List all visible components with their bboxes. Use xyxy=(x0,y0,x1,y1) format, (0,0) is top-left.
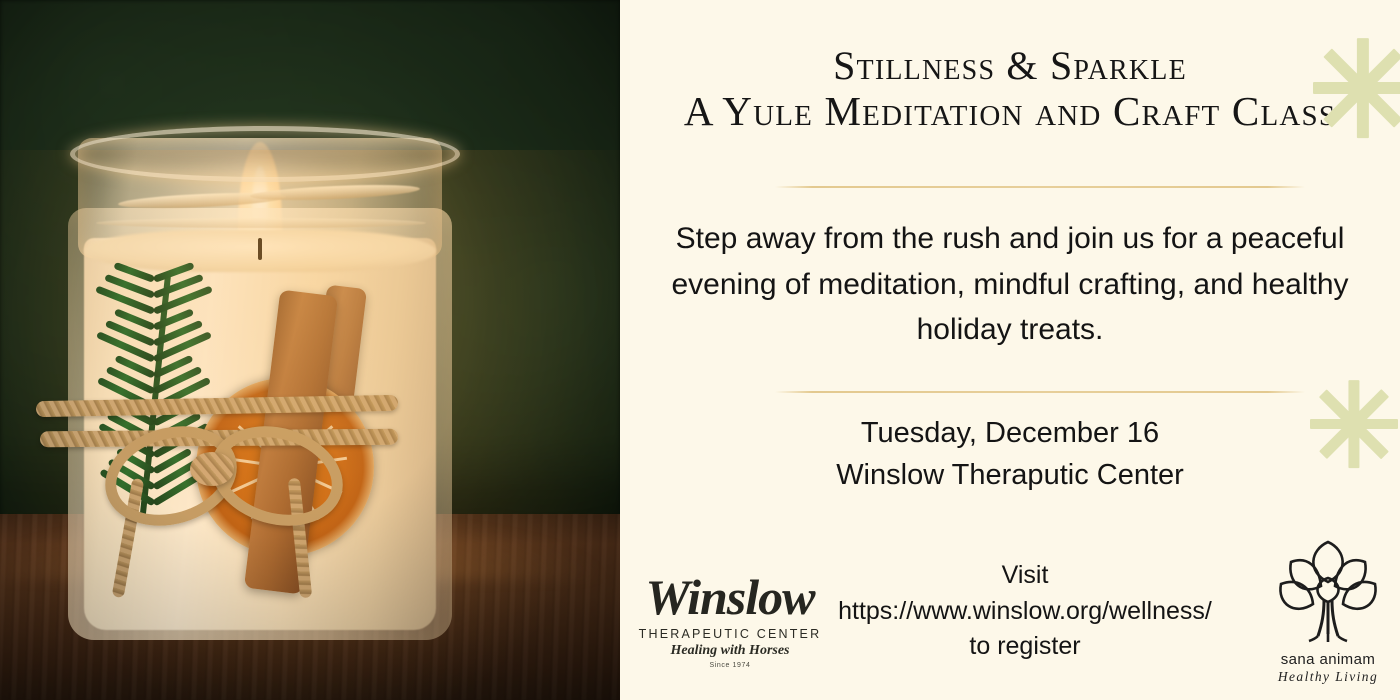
jar-rim xyxy=(70,126,460,182)
winslow-since: Since 1974 xyxy=(634,662,826,669)
divider-bottom xyxy=(775,391,1305,393)
winslow-logo: Winslow THERAPEUTIC CENTER Healing with … xyxy=(634,572,826,694)
sana-animam-name: sana animam xyxy=(1265,651,1391,668)
sana-animam-logo: sana animam Healthy Living xyxy=(1265,536,1391,694)
jar-thread xyxy=(96,218,426,228)
winslow-subtitle: THERAPEUTIC CENTER xyxy=(634,627,826,641)
event-flyer: Stillness & Sparkle A Yule Meditation an… xyxy=(0,0,1400,700)
register-url[interactable]: https://www.winslow.org/wellness/ xyxy=(790,594,1260,630)
candle-photo xyxy=(0,0,620,700)
event-venue: Winslow Theraputic Center xyxy=(670,454,1350,496)
register-prompt: Visit xyxy=(790,558,1260,594)
divider-top xyxy=(775,186,1305,188)
sana-animam-tagline: Healthy Living xyxy=(1265,669,1391,685)
register-suffix: to register xyxy=(790,629,1260,665)
registration-info: Visit https://www.winslow.org/wellness/ … xyxy=(790,558,1260,665)
celtic-knot-tree-icon xyxy=(1269,536,1387,644)
winslow-tagline: Healing with Horses xyxy=(634,643,826,659)
title-line-2: A Yule Meditation and Craft Class xyxy=(620,89,1400,135)
snowflake-icon xyxy=(1311,36,1400,140)
winslow-wordmark: Winslow xyxy=(634,572,826,622)
event-description: Step away from the rush and join us for … xyxy=(670,216,1350,353)
title-line-1: Stillness & Sparkle xyxy=(620,44,1400,89)
candle-wick xyxy=(258,238,262,260)
twine-bow-knot xyxy=(190,452,234,486)
content-panel: Stillness & Sparkle A Yule Meditation an… xyxy=(620,0,1400,700)
page-title: Stillness & Sparkle A Yule Meditation an… xyxy=(620,44,1400,135)
snowflake-icon xyxy=(1308,378,1400,470)
event-date: Tuesday, December 16 xyxy=(670,412,1350,454)
event-details: Tuesday, December 16 Winslow Theraputic … xyxy=(670,412,1350,496)
